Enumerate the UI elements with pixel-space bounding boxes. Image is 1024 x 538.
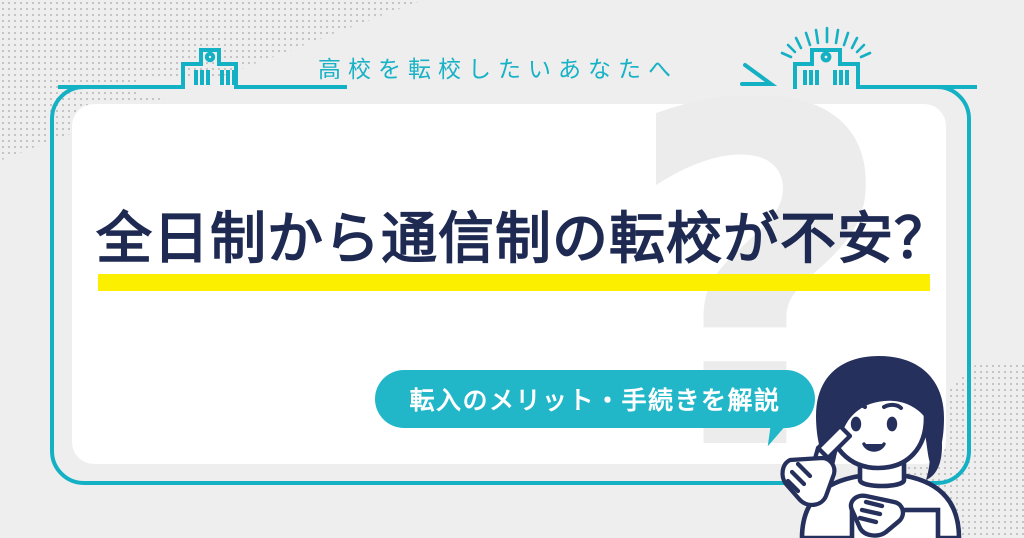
header-caption: 高校を転校したいあなたへ — [318, 50, 718, 94]
headline-block: 全日制から通信制の転校が不安？ — [96, 204, 936, 294]
eye-right — [887, 417, 897, 432]
eye-left — [851, 417, 861, 432]
poster-canvas: ? — [0, 0, 1024, 538]
headline-highlight-bar — [98, 274, 930, 291]
female-student-illustration — [756, 352, 986, 538]
speech-bubble-text: 転入のメリット・手続きを解説 — [375, 370, 815, 428]
speech-bubble: 転入のメリット・手続きを解説 — [375, 370, 815, 428]
page-title: 全日制から通信制の転校が不安？ — [96, 204, 951, 276]
